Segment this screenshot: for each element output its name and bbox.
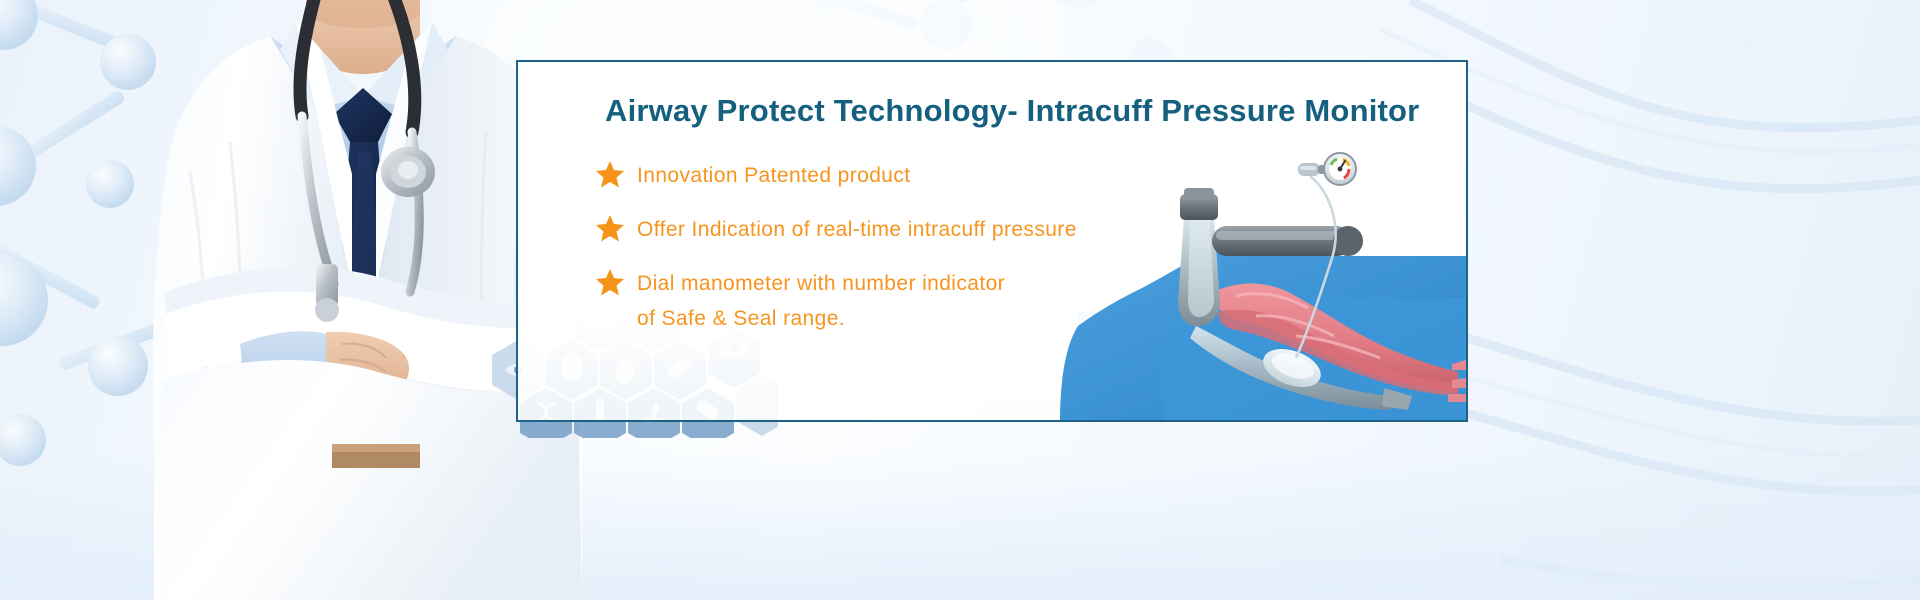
product-banner: Airway Protect Technology- Intracuff Pre…	[0, 0, 1920, 600]
star-icon	[596, 214, 624, 242]
endotracheal-tube-airway-anatomy-illustration	[1060, 130, 1466, 420]
dial-manometer-icon	[1296, 145, 1358, 197]
star-icon	[596, 268, 624, 296]
list-item-label: Offer Indication of real-time intracuff …	[637, 212, 1077, 247]
list-item-label: Dial manometer with number indicator of …	[637, 266, 1005, 336]
star-icon	[596, 160, 624, 188]
list-item-label: Innovation Patented product	[637, 158, 911, 193]
page-title: Airway Protect Technology- Intracuff Pre…	[605, 93, 1419, 129]
